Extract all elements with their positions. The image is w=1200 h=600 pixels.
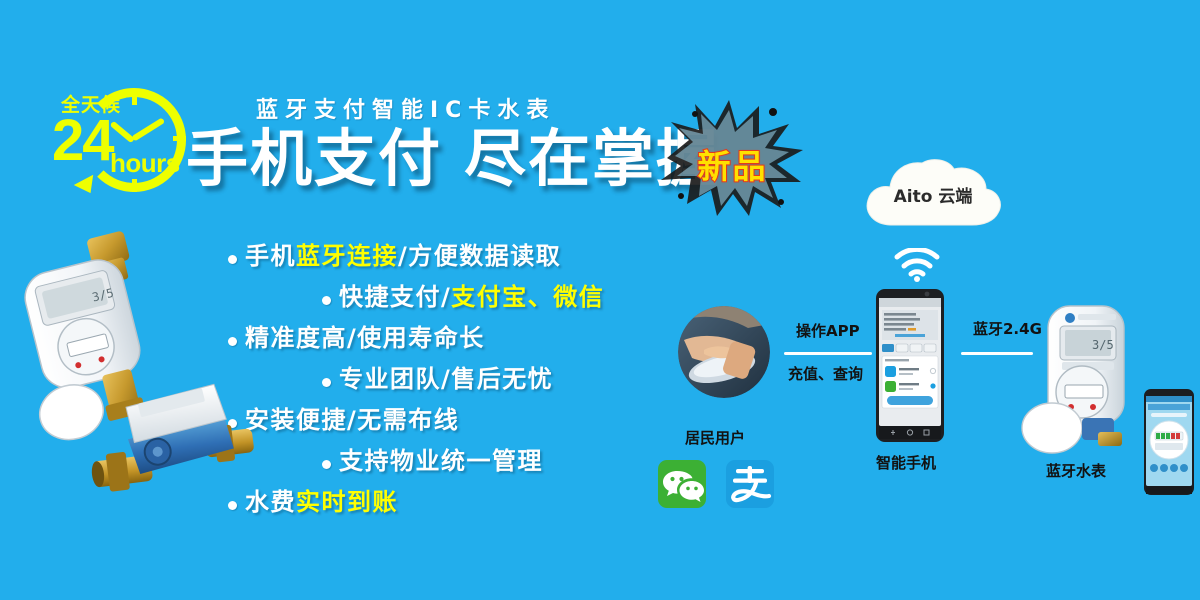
wifi-signal-icon xyxy=(893,248,941,282)
feature-bullet-item: 水费实时到账 xyxy=(228,482,698,517)
bullet-highlight-text: 实时到账 xyxy=(296,488,398,516)
starburst-label: 新品 xyxy=(655,140,810,188)
diagram-label-resident-user: 居民用户 xyxy=(685,427,745,448)
bullet-highlight-text: 支付宝、微信 xyxy=(451,283,604,311)
clock-tick-right xyxy=(173,136,186,141)
bluetooth-water-meter-product: 3/5 xyxy=(1020,300,1150,455)
feature-bullet-item: 手机蓝牙连接/方便数据读取 xyxy=(228,236,698,271)
clock-tick-bottom xyxy=(132,179,137,192)
alipay-icon[interactable] xyxy=(726,460,774,508)
diagram-label-recharge-query: 充值、查询 xyxy=(788,363,863,384)
bullet-dot-icon xyxy=(322,460,331,469)
feature-bullet-item: 精准度高/使用寿命长 xyxy=(228,318,698,353)
diagram-label-bluetooth-meter: 蓝牙水表 xyxy=(1046,460,1106,481)
smartphone-meter-reading-mockup xyxy=(1143,388,1195,496)
cloud-label: Aito 云端 xyxy=(858,182,1008,207)
bullet-dot-icon xyxy=(228,337,237,346)
payment-method-icons xyxy=(658,460,774,508)
feature-bullet-item: 专业团队/售后无忧 xyxy=(228,359,698,394)
headline-part-1: 手机支付 xyxy=(186,122,442,195)
feature-bullet-list: 手机蓝牙连接/方便数据读取快捷支付/支付宝、微信精准度高/使用寿命长专业团队/售… xyxy=(228,236,698,523)
promotional-banner: 全天候 24 hours 蓝牙支付智能IC卡水表 手机支付尽在掌握 新品 手机蓝… xyxy=(0,0,1200,600)
cloud-server-node: Aito 云端 xyxy=(858,155,1008,235)
new-product-starburst-badge: 新品 xyxy=(655,96,810,221)
bullet-dot-icon xyxy=(228,255,237,264)
connector-user-to-phone xyxy=(784,352,872,355)
feature-bullet-item: 安装便捷/无需布线 xyxy=(228,400,698,435)
feature-bullet-item: 快捷支付/支付宝、微信 xyxy=(228,277,698,312)
clock-arrow-head-icon xyxy=(74,175,100,199)
feature-bullet-text: 手机蓝牙连接/方便数据读取 xyxy=(245,236,561,271)
feature-bullet-text: 快捷支付/支付宝、微信 xyxy=(339,277,604,312)
feature-bullet-text: 精准度高/使用寿命长 xyxy=(245,318,485,353)
feature-bullet-text: 支持物业统一管理 xyxy=(339,441,543,476)
bullet-plain-text: 安装便捷/无需布线 xyxy=(245,406,459,434)
bullet-plain-text: /方便数据读取 xyxy=(398,242,561,270)
water-meter-product-horizontal xyxy=(79,362,264,512)
banner-subtitle: 蓝牙支付智能IC卡水表 xyxy=(256,92,555,124)
feature-bullet-text: 安装便捷/无需布线 xyxy=(245,400,459,435)
feature-bullet-item: 支持物业统一管理 xyxy=(228,441,698,476)
bullet-dot-icon xyxy=(322,378,331,387)
24-hours-badge: 全天候 24 hours xyxy=(52,86,192,198)
wechat-pay-icon[interactable] xyxy=(658,460,706,508)
bullet-plain-text: 快捷支付/ xyxy=(339,283,451,311)
bullet-dot-icon xyxy=(228,501,237,510)
clock-tick-top xyxy=(132,92,137,105)
bullet-plain-text: 支持物业统一管理 xyxy=(339,447,543,475)
bullet-plain-text: 手机 xyxy=(245,242,296,270)
feature-bullet-text: 水费实时到账 xyxy=(245,482,398,517)
badge-unit: hours xyxy=(110,148,180,179)
bullet-dot-icon xyxy=(322,296,331,305)
diagram-label-operate-app: 操作APP xyxy=(796,320,860,341)
bullet-plain-text: 专业团队/售后无忧 xyxy=(339,365,553,393)
bullet-highlight-text: 蓝牙连接 xyxy=(296,242,398,270)
badge-number: 24 xyxy=(52,112,113,170)
feature-bullet-text: 专业团队/售后无忧 xyxy=(339,359,553,394)
banner-headline: 手机支付尽在掌握 xyxy=(186,124,720,193)
diagram-label-smartphone: 智能手机 xyxy=(876,452,936,473)
smartphone-app-mockup xyxy=(875,288,945,443)
svg-text:3/5: 3/5 xyxy=(1092,338,1114,352)
bullet-plain-text: 精准度高/使用寿命长 xyxy=(245,324,485,352)
resident-user-photo xyxy=(678,306,770,398)
